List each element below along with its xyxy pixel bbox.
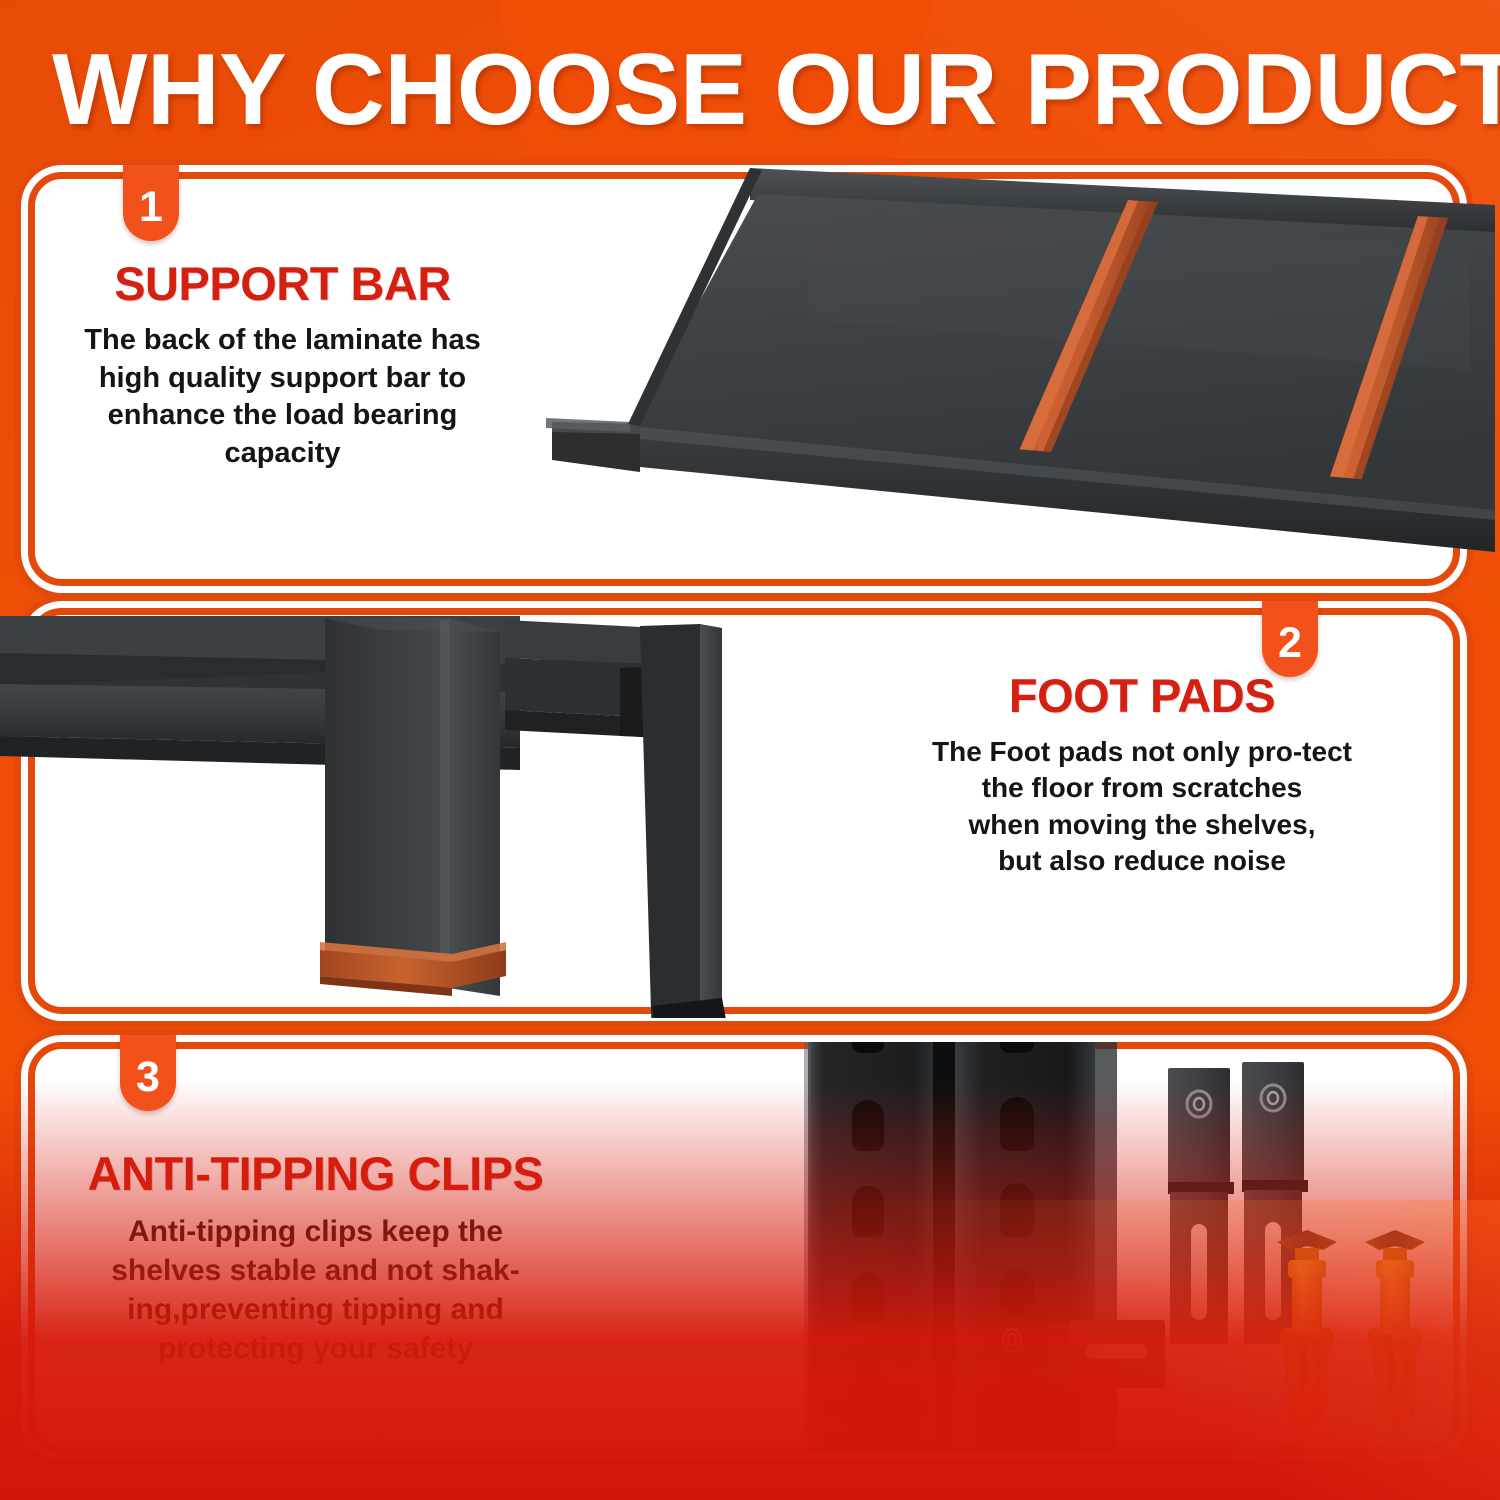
feature-body: Anti-tipping clips keep the shelves stab…	[28, 1212, 603, 1368]
feature-body-line: protecting your safety	[28, 1329, 603, 1368]
panel-number-badge-1: 1	[123, 165, 179, 241]
feature-body-line: The back of the laminate has	[30, 322, 535, 360]
feature-body-line: but also reduce noise	[862, 843, 1422, 879]
feature-body-line: high quality support bar to	[30, 360, 535, 398]
feature-title: SUPPORT BAR	[30, 260, 535, 308]
feature-title: FOOT PADS	[862, 672, 1422, 720]
feature-text-support-bar: SUPPORT BAR The back of the laminate has…	[30, 260, 535, 473]
panel-number-badge-3: 3	[120, 1035, 176, 1111]
feature-body-line: shelves stable and not shak-	[28, 1251, 603, 1290]
feature-body-line: when moving the shelves,	[862, 807, 1422, 843]
panel-number-badge-2: 2	[1262, 601, 1318, 677]
feature-body-line: Anti-tipping clips keep the	[28, 1212, 603, 1251]
feature-body: The Foot pads not only pro-tect the floo…	[862, 734, 1422, 880]
feature-body: The back of the laminate has high qualit…	[30, 322, 535, 473]
feature-body-line: The Foot pads not only pro-tect	[862, 734, 1422, 770]
feature-text-foot-pads: FOOT PADS The Foot pads not only pro-tec…	[862, 672, 1422, 880]
feature-text-anti-tipping-clips: ANTI-TIPPING CLIPS Anti-tipping clips ke…	[28, 1150, 603, 1368]
feature-title: ANTI-TIPPING CLIPS	[28, 1150, 603, 1198]
feature-body-line: the floor from scratches	[862, 770, 1422, 806]
feature-body-line: enhance the load bearing	[30, 397, 535, 435]
feature-body-line: ing,preventing tipping and	[28, 1290, 603, 1329]
feature-body-line: capacity	[30, 435, 535, 473]
infographic-canvas: WHY CHOOSE OUR PRODUCT	[0, 0, 1500, 1500]
page-title: WHY CHOOSE OUR PRODUCT	[52, 36, 1462, 144]
